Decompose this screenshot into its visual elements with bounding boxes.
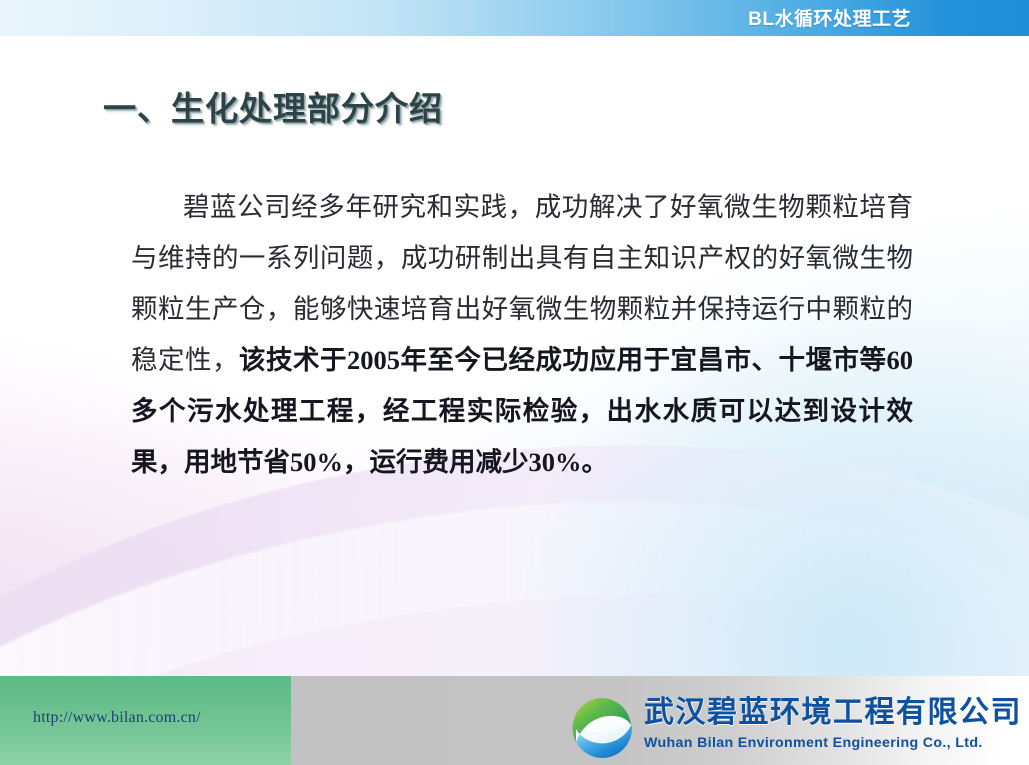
body-paragraph: 碧蓝公司经多年研究和实践，成功解决了好氧微生物颗粒培育与维持的一系列问题，成功研… — [131, 182, 913, 488]
page-title: 一、生化处理部分介绍 — [103, 82, 443, 130]
website-url-link[interactable]: http://www.bilan.com.cn/ — [33, 709, 201, 727]
company-logo-text: 武汉碧蓝环境工程有限公司 Wuhan Bilan Environment Eng… — [644, 694, 1014, 753]
company-name-cn: 武汉碧蓝环境工程有限公司 — [644, 694, 1014, 732]
company-name-en: Wuhan Bilan Environment Engineering Co.,… — [644, 733, 1014, 753]
body-paragraph-bold: 该技术于2005年至今已经成功应用于宜昌市、十堰市等60多个污水处理工程，经工程… — [131, 345, 913, 477]
bilan-circle-logo-icon — [570, 696, 634, 760]
slide-canvas: BL水循环处理工艺 一、生化处理部分介绍 碧蓝公司经多年研究和实践，成功解决了好… — [0, 0, 1029, 765]
company-logo: 武汉碧蓝环境工程有限公司 Wuhan Bilan Environment Eng… — [570, 694, 1010, 762]
header-bar: BL水循环处理工艺 — [0, 0, 1029, 36]
header-title: BL水循环处理工艺 — [748, 4, 911, 31]
